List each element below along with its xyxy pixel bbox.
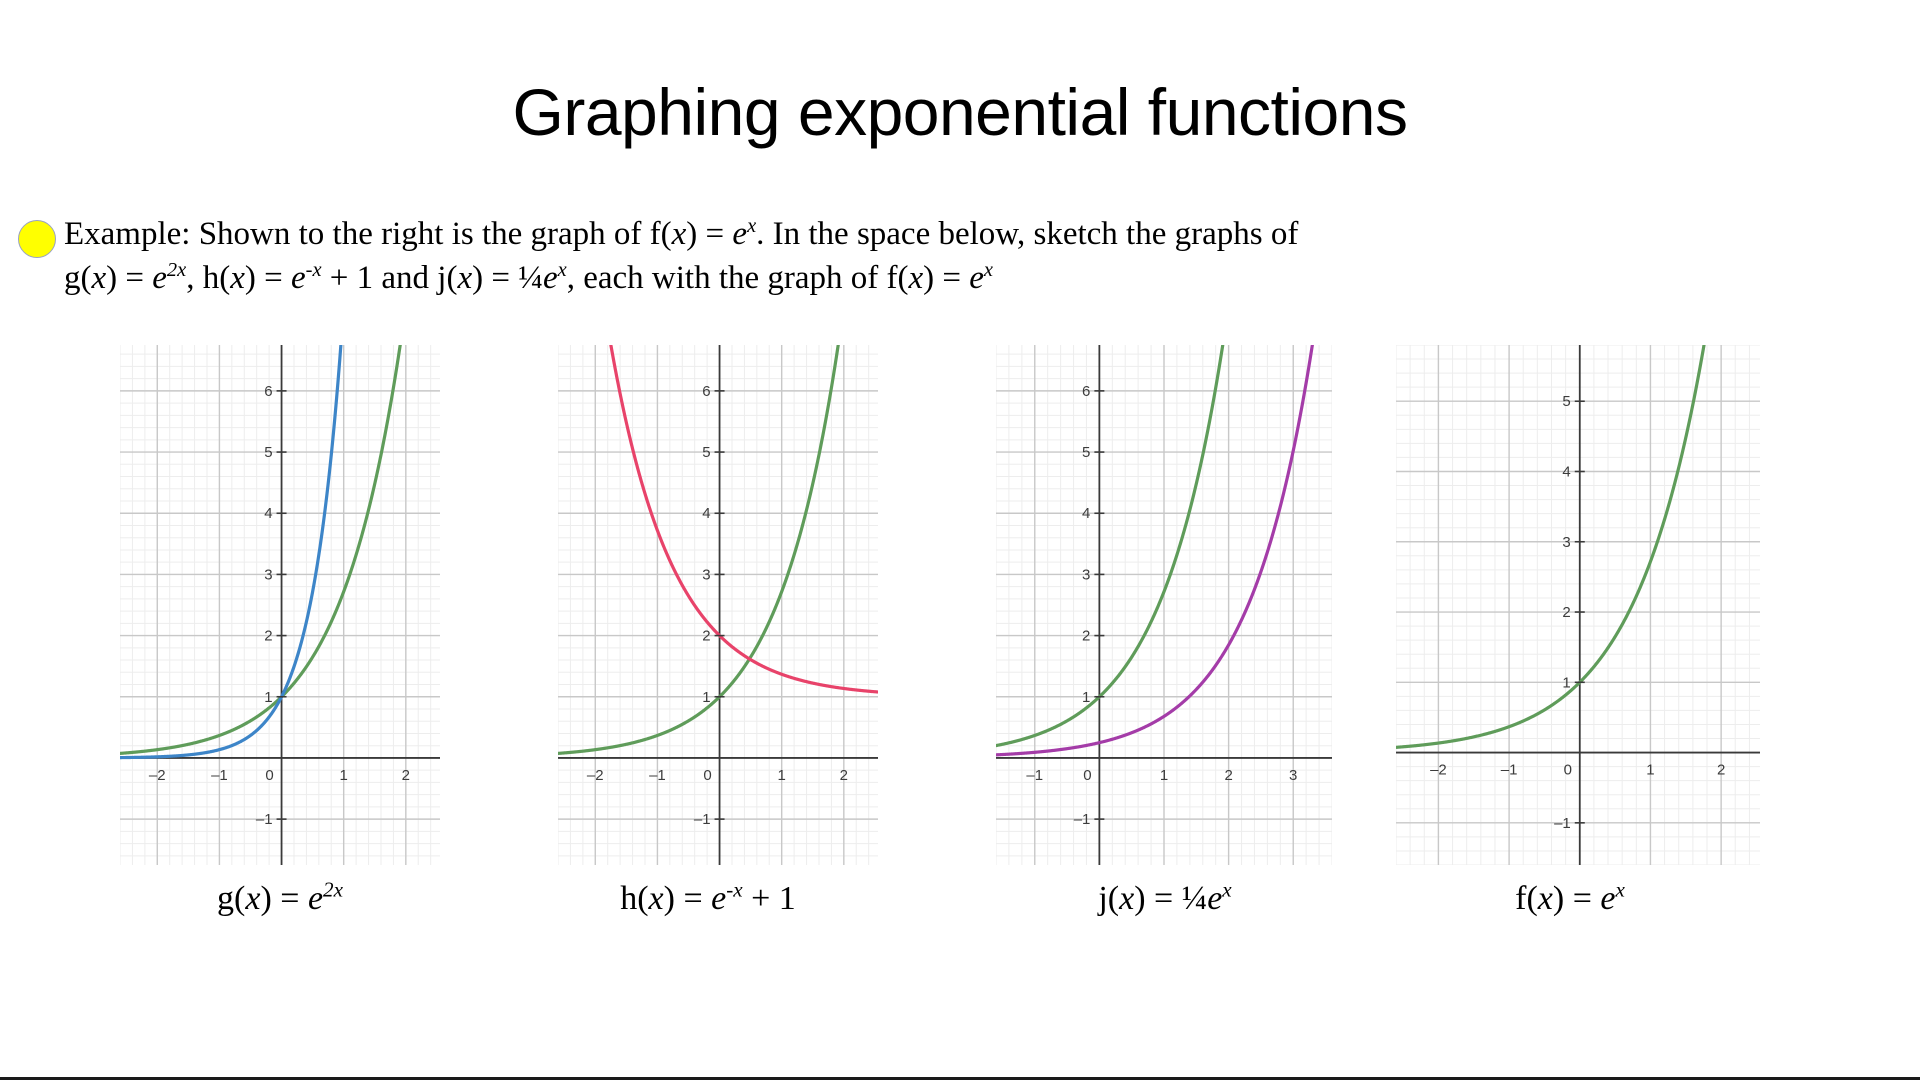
- svg-text:2: 2: [702, 628, 710, 645]
- yellow-circle-bullet-icon: [18, 220, 56, 258]
- svg-text:–1: –1: [1554, 815, 1571, 832]
- axes: [1396, 345, 1760, 865]
- caption-panel-h: h(x) = e-x + 1: [538, 880, 878, 918]
- svg-text:6: 6: [1082, 383, 1090, 400]
- graph-panel-h: –2–1012–1123456: [558, 345, 878, 865]
- svg-text:2: 2: [840, 767, 848, 784]
- svg-text:0: 0: [1083, 767, 1091, 784]
- svg-text:5: 5: [1562, 393, 1570, 410]
- caption-panel-f: f(x) = ex: [1400, 880, 1740, 918]
- svg-text:4: 4: [1082, 505, 1090, 522]
- svg-text:4: 4: [264, 505, 272, 522]
- svg-text:–2: –2: [149, 767, 166, 784]
- svg-text:–1: –1: [1501, 762, 1518, 779]
- svg-text:1: 1: [778, 767, 786, 784]
- curve-g-x-e-2x-: [120, 345, 352, 758]
- grid-major: [996, 345, 1332, 865]
- page-title: Graphing exponential functions: [0, 78, 1920, 147]
- svg-text:0: 0: [703, 767, 711, 784]
- graph-caption-row: g(x) = e2xh(x) = e-x + 1j(x) = ¼exf(x) =…: [0, 880, 1920, 940]
- svg-text:0: 0: [265, 767, 273, 784]
- svg-text:1: 1: [1646, 762, 1654, 779]
- tick-labels: –10123–1123456: [1026, 383, 1297, 828]
- axes: [558, 345, 878, 865]
- svg-text:1: 1: [264, 689, 272, 706]
- grid-major: [1396, 345, 1760, 865]
- svg-text:3: 3: [1562, 534, 1570, 551]
- svg-text:–1: –1: [1026, 767, 1043, 784]
- svg-text:2: 2: [264, 628, 272, 645]
- svg-text:2: 2: [402, 767, 410, 784]
- svg-text:1: 1: [1160, 767, 1168, 784]
- svg-text:1: 1: [1082, 689, 1090, 706]
- svg-text:3: 3: [1289, 767, 1297, 784]
- example-text-line2: g(x) = e2x, h(x) = e-x + 1 and j(x) = ¼e…: [64, 260, 993, 296]
- example-text: Example: Shown to the right is the graph…: [64, 212, 1298, 300]
- svg-text:2: 2: [1562, 604, 1570, 621]
- svg-text:–1: –1: [211, 767, 228, 784]
- tick-labels: –2–1012–1123456: [587, 383, 848, 828]
- svg-text:2: 2: [1224, 767, 1232, 784]
- caption-panel-g: g(x) = e2x: [120, 880, 440, 918]
- slide-canvas: Graphing exponential functions Example: …: [0, 0, 1920, 1080]
- svg-text:4: 4: [702, 505, 710, 522]
- svg-text:5: 5: [702, 444, 710, 461]
- svg-text:1: 1: [1562, 674, 1570, 691]
- svg-text:–1: –1: [1074, 811, 1091, 828]
- curves: [558, 345, 878, 753]
- svg-text:–1: –1: [256, 811, 273, 828]
- grid-minor: [558, 345, 878, 865]
- example-text-line1: Example: Shown to the right is the graph…: [64, 216, 1298, 252]
- svg-text:1: 1: [702, 689, 710, 706]
- grid-major: [120, 345, 440, 865]
- tick-labels: –2–1012–1123456: [149, 383, 410, 828]
- curve-f-x-e-x: [996, 345, 1246, 746]
- svg-text:6: 6: [264, 383, 272, 400]
- svg-text:3: 3: [702, 566, 710, 583]
- grid-minor: [120, 345, 440, 865]
- svg-text:5: 5: [264, 444, 272, 461]
- svg-text:–2: –2: [587, 767, 604, 784]
- graph-panel-row: –2–1012–1123456–2–1012–1123456–10123–112…: [0, 345, 1920, 865]
- svg-text:–1: –1: [649, 767, 666, 784]
- axes: [120, 345, 440, 865]
- graph-panel-f: –2–1012–112345: [1396, 345, 1760, 865]
- svg-text:6: 6: [702, 383, 710, 400]
- svg-text:3: 3: [1082, 566, 1090, 583]
- svg-text:2: 2: [1082, 628, 1090, 645]
- graph-panel-j: –10123–1123456: [996, 345, 1332, 865]
- svg-text:–2: –2: [1430, 762, 1447, 779]
- svg-text:–1: –1: [694, 811, 711, 828]
- caption-panel-j: j(x) = ¼ex: [1000, 880, 1330, 918]
- grid-minor: [1396, 345, 1760, 865]
- svg-text:3: 3: [264, 566, 272, 583]
- svg-text:1: 1: [340, 767, 348, 784]
- example-bullet-block: Example: Shown to the right is the graph…: [18, 212, 1880, 300]
- svg-text:5: 5: [1082, 444, 1090, 461]
- grid-major: [558, 345, 878, 865]
- svg-text:4: 4: [1562, 463, 1570, 480]
- svg-text:2: 2: [1717, 762, 1725, 779]
- graph-panel-g: –2–1012–1123456: [120, 345, 440, 865]
- svg-text:0: 0: [1564, 762, 1572, 779]
